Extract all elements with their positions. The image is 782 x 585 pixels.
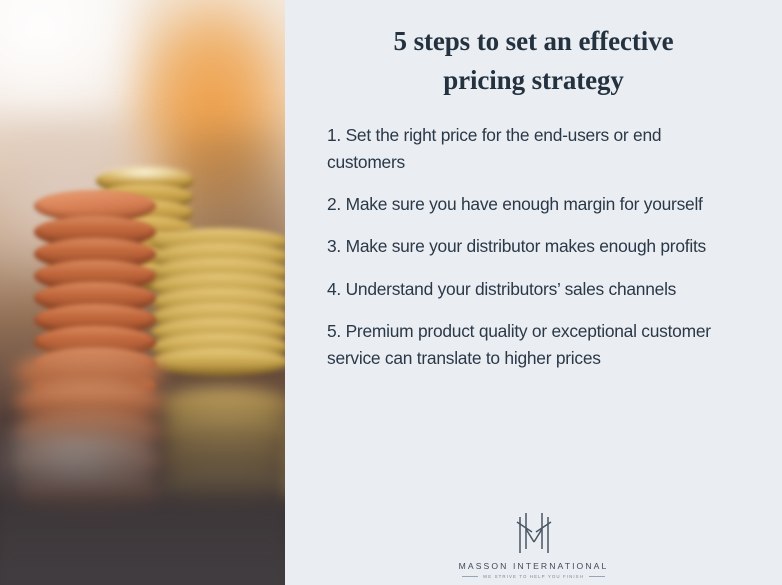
logo-wordmark: MASSON INTERNATIONAL bbox=[459, 561, 609, 571]
list-item: 5. Premium product quality or exceptiona… bbox=[327, 318, 727, 372]
page-title: 5 steps to set an effective pricing stra… bbox=[305, 22, 762, 100]
logo-tagline: WE STRIVE TO HELP YOU FINISH bbox=[483, 574, 584, 579]
steps-list: 1. Set the right price for the end-users… bbox=[327, 122, 727, 372]
coin-stack-gold-right bbox=[150, 228, 285, 388]
list-item: 4. Understand your distributors’ sales c… bbox=[327, 276, 727, 303]
masson-monogram-m-icon bbox=[504, 513, 564, 557]
list-item: 1. Set the right price for the end-users… bbox=[327, 122, 727, 176]
coin-top-specular-highlight bbox=[96, 166, 192, 182]
brand-logo: MASSON INTERNATIONAL WE STRIVE TO HELP Y… bbox=[285, 513, 782, 579]
photo-dark-surface bbox=[0, 395, 285, 585]
logo-rule-right bbox=[589, 576, 605, 577]
page-title-line-2: pricing strategy bbox=[443, 65, 624, 95]
logo-rule-left bbox=[462, 576, 478, 577]
logo-tagline-row: WE STRIVE TO HELP YOU FINISH bbox=[462, 574, 605, 579]
coin-photo-panel bbox=[0, 0, 285, 585]
page-title-line-1: 5 steps to set an effective bbox=[394, 26, 674, 56]
content-panel: 5 steps to set an effective pricing stra… bbox=[285, 0, 782, 585]
list-item: 3. Make sure your distributor makes enou… bbox=[327, 233, 727, 260]
slide-root: 5 steps to set an effective pricing stra… bbox=[0, 0, 782, 585]
list-item: 2. Make sure you have enough margin for … bbox=[327, 191, 727, 218]
